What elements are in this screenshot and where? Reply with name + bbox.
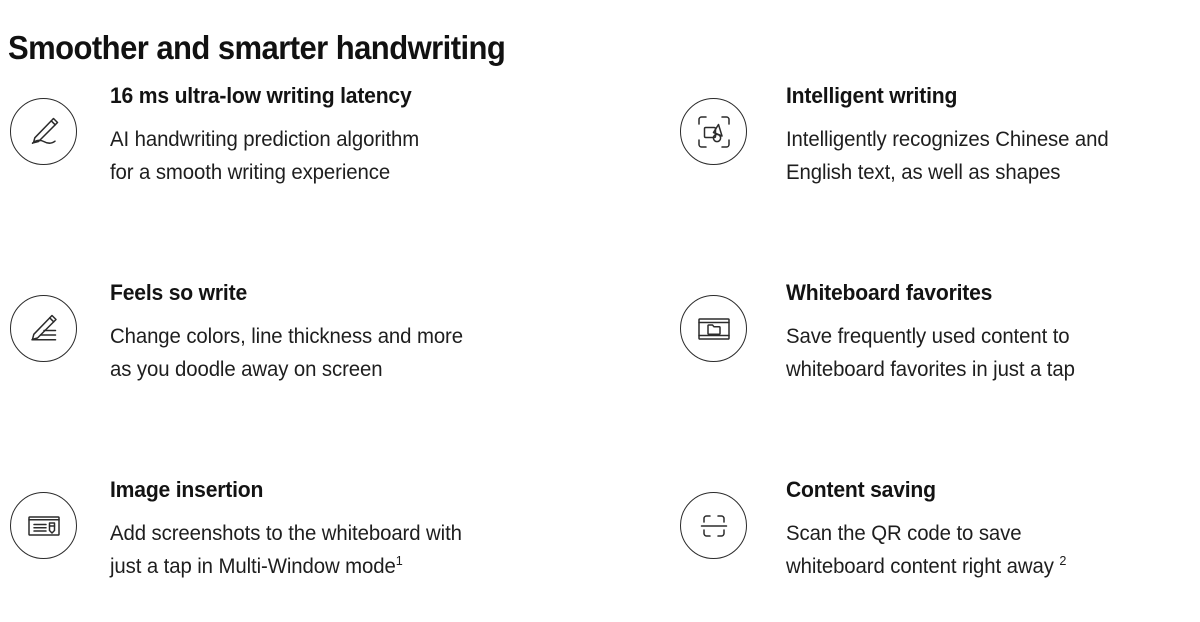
feature-desc-line-2: whiteboard favorites in just a tap (786, 358, 1075, 381)
feature-desc-line-2: just a tap in Multi-Window mode (110, 555, 396, 578)
feature-card-feels-so-write: Feels so write Change colors, line thick… (0, 259, 676, 456)
pen-lines-icon (10, 295, 77, 362)
feature-desc-line-1: Change colors, line thickness and more (110, 325, 463, 348)
feature-desc-line-1: Scan the QR code to save (786, 522, 1021, 545)
feature-text: Feels so write Change colors, line thick… (110, 259, 676, 386)
feature-description: AI handwriting prediction algorithm for … (110, 123, 595, 189)
feature-title: Image insertion (110, 476, 653, 504)
image-insert-icon (10, 492, 77, 559)
feature-description: Change colors, line thickness and more a… (110, 320, 595, 386)
feature-title: 16 ms ultra-low writing latency (110, 82, 653, 110)
feature-desc-line-2: as you doodle away on screen (110, 358, 382, 381)
whiteboard-folder-icon (680, 295, 747, 362)
footnote-marker: 1 (396, 553, 403, 568)
feature-description: Scan the QR code to save whiteboard cont… (786, 517, 1188, 583)
feature-text: Intelligent writing Intelligently recogn… (786, 62, 1200, 189)
feature-title: Intelligent writing (786, 82, 1183, 110)
feature-description: Save frequently used content to whiteboa… (786, 320, 1188, 386)
feature-icon-wrap (0, 456, 110, 559)
feature-desc-line-1: Save frequently used content to (786, 325, 1069, 348)
feature-description: Intelligently recognizes Chinese and Eng… (786, 123, 1188, 189)
feature-icon-wrap (676, 456, 786, 559)
feature-title: Feels so write (110, 279, 653, 307)
feature-card-intelligent-writing: Intelligent writing Intelligently recogn… (676, 62, 1200, 259)
feature-card-writing-latency: 16 ms ultra-low writing latency AI handw… (0, 62, 676, 259)
feature-icon-wrap (676, 259, 786, 362)
scan-qr-icon (680, 492, 747, 559)
feature-grid-page: Smoother and smarter handwriting 16 ms u… (0, 0, 1200, 622)
feature-desc-line-1: Intelligently recognizes Chinese and (786, 128, 1109, 151)
feature-title: Whiteboard favorites (786, 279, 1183, 307)
feature-text: Whiteboard favorites Save frequently use… (786, 259, 1200, 386)
shape-recognition-icon (680, 98, 747, 165)
feature-desc-line-1: AI handwriting prediction algorithm (110, 128, 419, 151)
feature-desc-line-1: Add screenshots to the whiteboard with (110, 522, 462, 545)
feature-title: Content saving (786, 476, 1183, 504)
feature-card-image-insertion: Image insertion Add screenshots to the w… (0, 456, 676, 622)
pen-stroke-icon (10, 98, 77, 165)
feature-icon-wrap (0, 62, 110, 165)
feature-desc-line-2: for a smooth writing experience (110, 161, 390, 184)
feature-desc-line-2: whiteboard content right away (786, 555, 1059, 578)
feature-text: Content saving Scan the QR code to save … (786, 456, 1200, 583)
feature-desc-line-2: English text, as well as shapes (786, 161, 1060, 184)
feature-text: 16 ms ultra-low writing latency AI handw… (110, 62, 676, 189)
feature-card-whiteboard-favorites: Whiteboard favorites Save frequently use… (676, 259, 1200, 456)
feature-text: Image insertion Add screenshots to the w… (110, 456, 676, 583)
feature-icon-wrap (0, 259, 110, 362)
footnote-marker: 2 (1059, 553, 1066, 568)
feature-icon-wrap (676, 62, 786, 165)
feature-description: Add screenshots to the whiteboard with j… (110, 517, 595, 583)
feature-card-content-saving: Content saving Scan the QR code to save … (676, 456, 1200, 622)
features-grid: 16 ms ultra-low writing latency AI handw… (0, 62, 1200, 622)
